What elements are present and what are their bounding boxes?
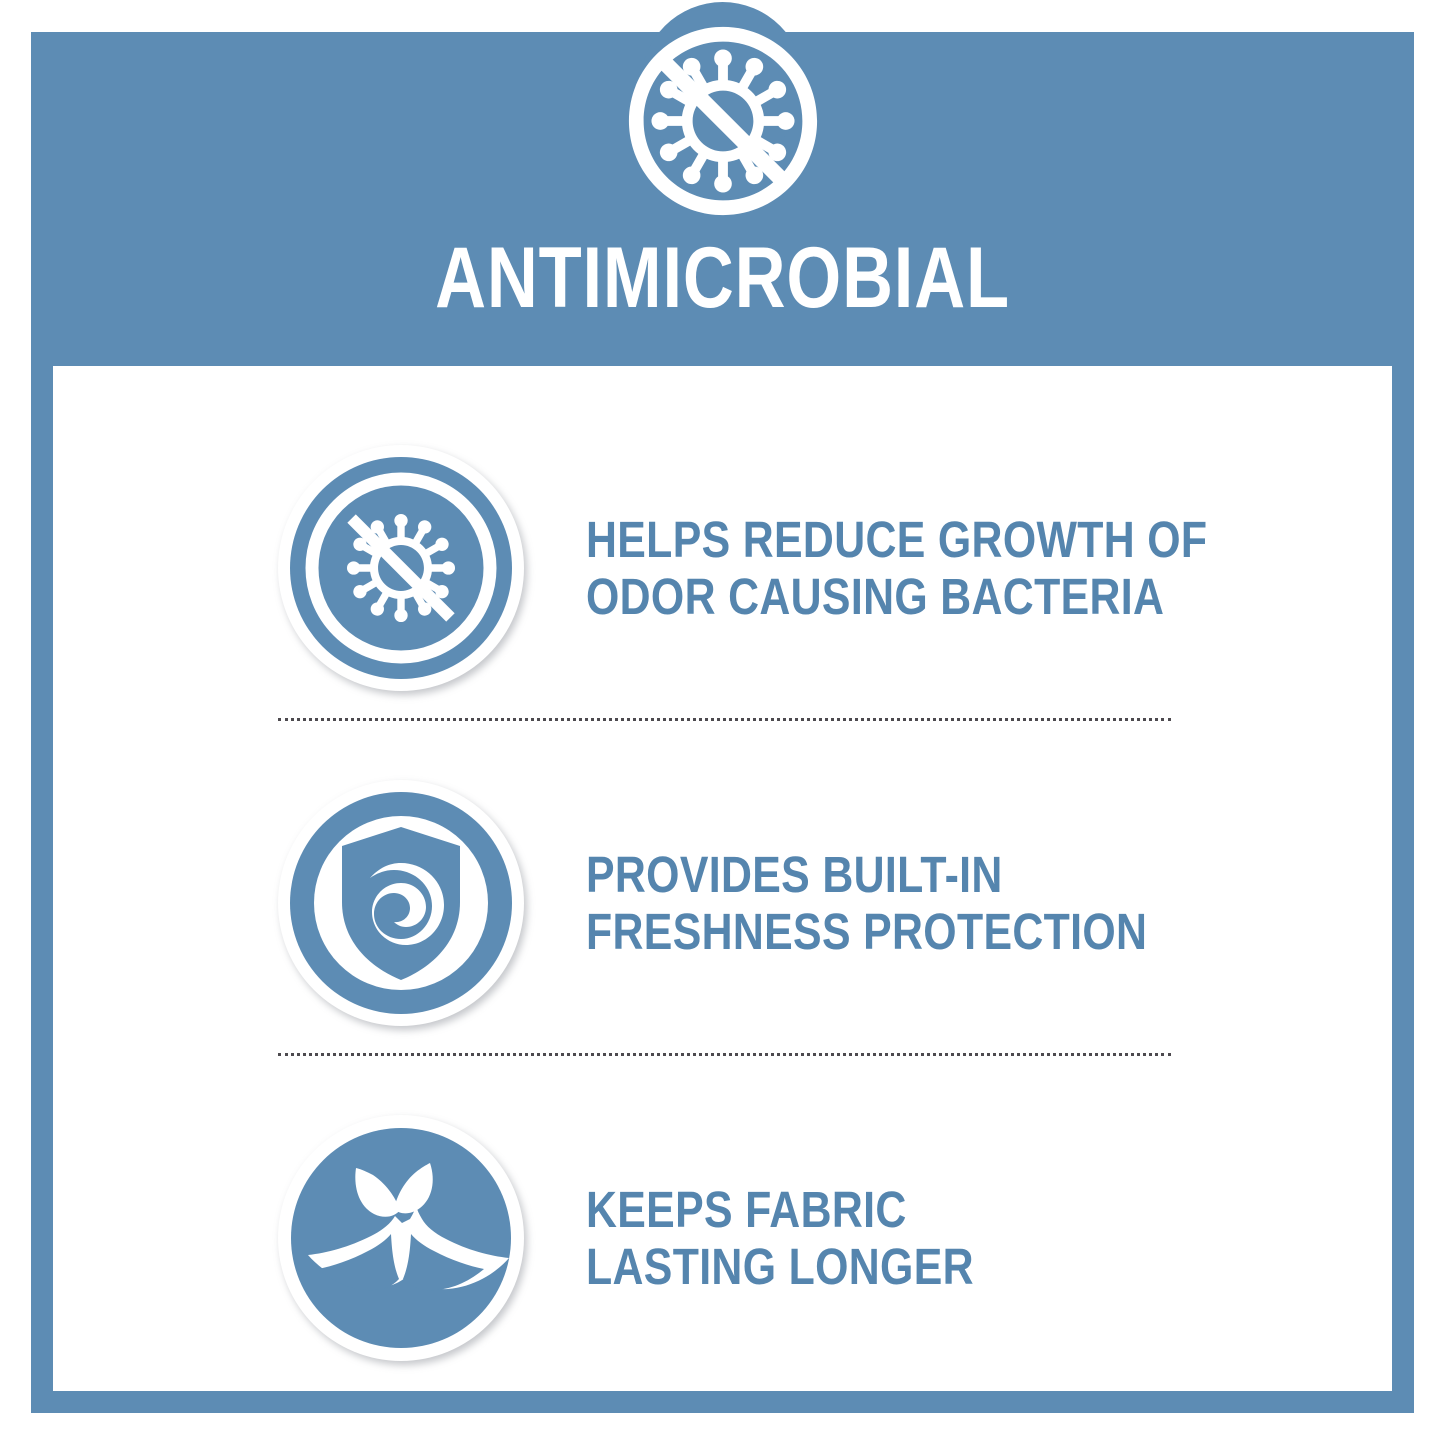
feature-line-2: FRESHNESS PROTECTION xyxy=(586,903,1147,960)
page-title: ANTIMICROBIAL xyxy=(174,232,1272,324)
section-divider xyxy=(278,718,1171,721)
feature-row: HELPS REDUCE GROWTH OF ODOR CAUSING BACT… xyxy=(278,443,1178,693)
feature-line-2: ODOR CAUSING BACTERIA xyxy=(586,568,1207,625)
leaf-sprout-badge-icon xyxy=(278,1115,524,1361)
feature-line-1: PROVIDES BUILT-IN xyxy=(586,846,1147,903)
section-divider xyxy=(278,1053,1171,1056)
feature-line-2: LASTING LONGER xyxy=(586,1238,974,1295)
feature-line-1: KEEPS FABRIC xyxy=(586,1181,974,1238)
no-virus-icon xyxy=(625,23,821,219)
feature-line-1: HELPS REDUCE GROWTH OF xyxy=(586,511,1207,568)
feature-text: KEEPS FABRIC LASTING LONGER xyxy=(586,1181,974,1295)
feature-text: PROVIDES BUILT-IN FRESHNESS PROTECTION xyxy=(586,846,1147,960)
shield-swirl-badge-icon xyxy=(278,780,524,1026)
no-virus-badge-icon xyxy=(278,445,524,691)
feature-row: KEEPS FABRIC LASTING LONGER xyxy=(278,1113,1178,1363)
feature-row: PROVIDES BUILT-IN FRESHNESS PROTECTION xyxy=(278,778,1178,1028)
antimicrobial-infographic-card: ANTIMICROBIAL xyxy=(0,0,1445,1445)
feature-text: HELPS REDUCE GROWTH OF ODOR CAUSING BACT… xyxy=(586,511,1207,625)
